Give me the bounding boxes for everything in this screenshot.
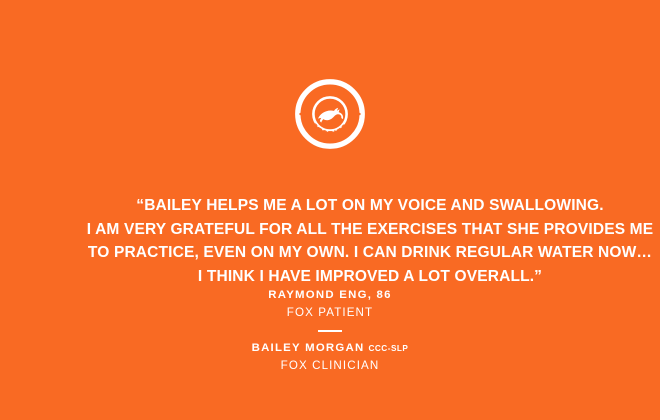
clinician-role: FOX CLINICIAN bbox=[0, 358, 660, 374]
attribution-divider bbox=[318, 330, 342, 332]
badge-dot-right bbox=[358, 113, 361, 116]
clinician-credential: CCC-SLP bbox=[368, 344, 408, 353]
clinician-name: BAILEY MORGAN bbox=[252, 342, 365, 354]
quote-line: TO PRACTICE, EVEN ON MY OWN. I CAN DRINK… bbox=[52, 241, 660, 265]
quote-line: I THINK I HAVE IMPROVED A LOT OVERALL.” bbox=[52, 265, 660, 289]
badge-graphic: SUCCESS STORIES bbox=[295, 79, 365, 149]
badge-dot-left bbox=[299, 113, 302, 116]
attribution-block: RAYMOND ENG, 86 FOX PATIENT BAILEY MORGA… bbox=[0, 288, 660, 374]
success-story-card: SUCCESS STORIES “BAILEY HELPS ME A LOT O… bbox=[0, 0, 660, 420]
testimonial-quote: “BAILEY HELPS ME A LOT ON MY VOICE AND S… bbox=[52, 194, 660, 288]
quote-line: I AM VERY GRATEFUL FOR ALL THE EXERCISES… bbox=[52, 218, 660, 242]
clinician-name-line: BAILEY MORGANCCC-SLP bbox=[0, 341, 660, 356]
patient-attribution: RAYMOND ENG, 86 FOX PATIENT bbox=[0, 288, 660, 321]
success-stories-badge: SUCCESS STORIES bbox=[295, 79, 365, 149]
leaping-fox-icon bbox=[318, 108, 343, 123]
clinician-attribution: BAILEY MORGANCCC-SLP FOX CLINICIAN bbox=[0, 341, 660, 374]
quote-line: “BAILEY HELPS ME A LOT ON MY VOICE AND S… bbox=[52, 194, 660, 218]
patient-name: RAYMOND ENG, 86 bbox=[0, 288, 660, 303]
patient-role: FOX PATIENT bbox=[0, 305, 660, 321]
badge-arc-bottom-text: STORIES bbox=[309, 122, 351, 139]
